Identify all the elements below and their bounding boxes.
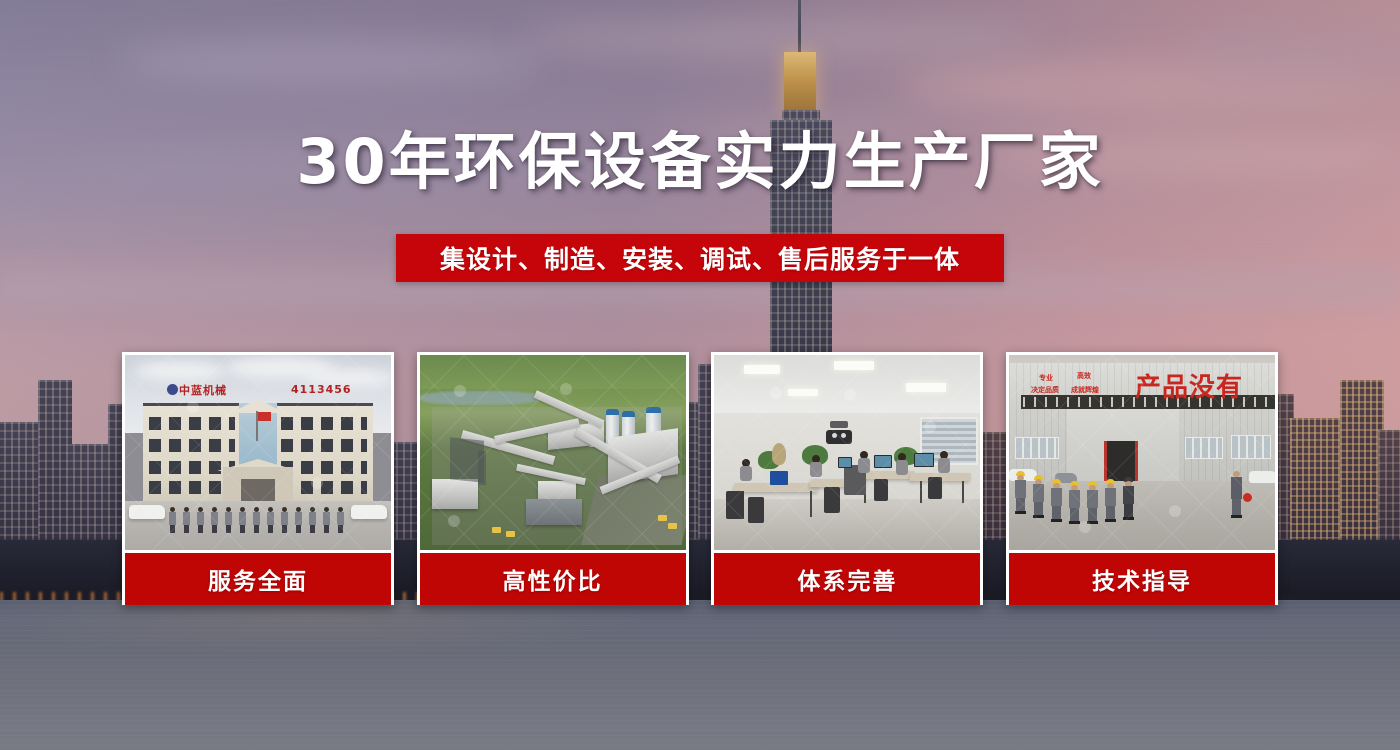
- subtitle-text: 集设计、制造、安装、调试、售后服务于一体: [440, 240, 960, 276]
- card-label-text: 服务全面: [208, 562, 308, 596]
- company-signage: 中蓝机械: [179, 383, 269, 396]
- industrial-plant-photo: [420, 355, 686, 550]
- company-logo-icon: [167, 384, 178, 395]
- factory-slogan-main: 产品没有: [1135, 367, 1243, 404]
- card-label-service: 服务全面: [125, 553, 391, 605]
- company-phone-number: 4113456: [291, 383, 379, 396]
- page-title: 30年环保设备实力生产厂家: [0, 128, 1400, 196]
- feature-card-value[interactable]: 高性价比: [417, 352, 689, 605]
- card-label-system: 体系完善: [714, 553, 980, 605]
- card-label-text: 体系完善: [797, 562, 897, 596]
- wall-decoration: [822, 421, 856, 449]
- card-label-value: 高性价比: [420, 553, 686, 605]
- feature-card-service[interactable]: 中蓝机械 4113456: [122, 352, 394, 605]
- promotional-banner: 30年环保设备实力生产厂家 集设计、制造、安装、调试、售后服务于一体: [0, 0, 1400, 750]
- factory-slogan-small-2: 高效: [1077, 371, 1091, 381]
- office-interior-photo: [714, 355, 980, 550]
- card-label-guidance: 技术指导: [1009, 553, 1275, 605]
- company-building-photo: 中蓝机械 4113456: [125, 355, 391, 550]
- feature-cards-row: 中蓝机械 4113456: [122, 352, 1278, 605]
- subtitle-banner: 集设计、制造、安装、调试、售后服务于一体: [396, 234, 1004, 282]
- factory-slogan-small-4: 成就辉煌: [1071, 385, 1099, 395]
- feature-card-system[interactable]: 体系完善: [711, 352, 983, 605]
- workers-factory-photo: 产品没有 专业 高效 决定品质 成就辉煌: [1009, 355, 1275, 550]
- card-label-text: 技术指导: [1092, 562, 1192, 596]
- card-label-text: 高性价比: [503, 562, 603, 596]
- factory-slogan-small-1: 专业: [1039, 373, 1053, 383]
- factory-slogan-small-3: 决定品质: [1031, 385, 1059, 395]
- feature-card-guidance[interactable]: 产品没有 专业 高效 决定品质 成就辉煌: [1006, 352, 1278, 605]
